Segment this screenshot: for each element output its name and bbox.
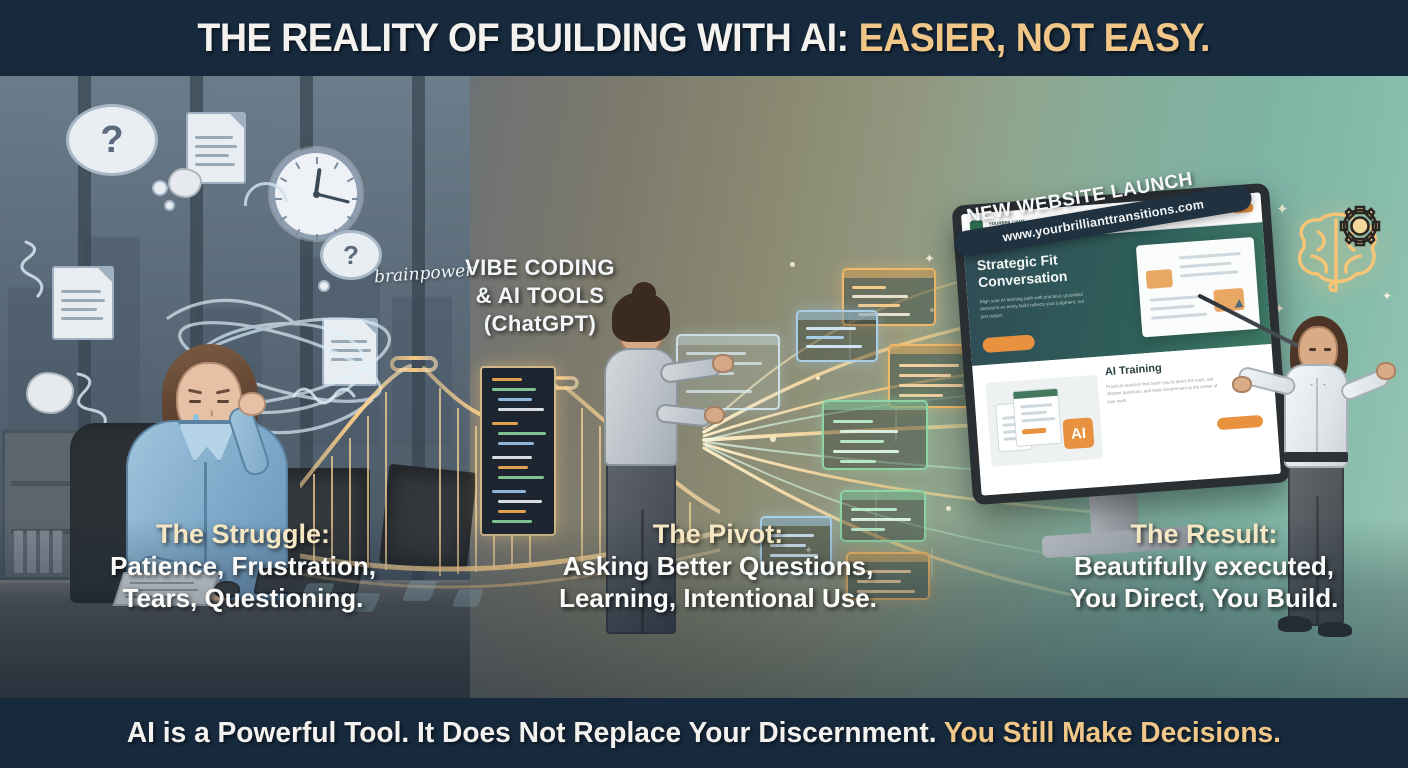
hero-illustration-card	[1136, 237, 1260, 337]
floating-code-card	[822, 400, 928, 470]
squiggle-icon	[18, 234, 84, 304]
pivot-woman-hand-gesture	[704, 406, 725, 424]
hero-body: Align your AI learning path with practic…	[979, 290, 1086, 320]
vibe-coding-label: VIBE CODING & AI TOOLS (ChatGPT)	[440, 254, 640, 338]
header-title-gold: EASIER, NOT EASY.	[859, 16, 1210, 60]
illustration-scene: ? ?	[0, 76, 1408, 698]
caption-pivot: The Pivot: Asking Better Questions, Lear…	[508, 519, 928, 614]
footer-banner: AI is a Powerful Tool. It Does Not Repla…	[0, 698, 1408, 768]
vibe-coding-line2: & AI TOOLS	[440, 282, 640, 310]
header-title-white: THE REALITY OF BUILDING WITH AI:	[198, 16, 849, 60]
infographic-root: THE REALITY OF BUILDING WITH AI: EASIER,…	[0, 0, 1408, 768]
presenter-hand-gesture	[1376, 362, 1396, 380]
website-section-ai-training: AI AI Training Practical sessions that t…	[972, 344, 1281, 496]
presenter-belt	[1284, 452, 1348, 462]
caption-result: The Result: Beautifully executed, You Di…	[1012, 519, 1396, 614]
caption-pivot-line1: Asking Better Questions,	[508, 551, 928, 582]
presenter-hand-pointer	[1232, 376, 1252, 393]
caption-struggle-line1: Patience, Frustration,	[46, 551, 440, 582]
caption-result-line1: Beautifully executed,	[1012, 551, 1396, 582]
gear-icon	[1338, 204, 1382, 248]
section-illustration-tile: AI	[985, 375, 1103, 467]
struggling-woman-hand-head	[238, 392, 266, 416]
thought-bubble-question-small: ?	[320, 230, 382, 280]
footer-text-gold: You Still Make Decisions.	[944, 717, 1281, 749]
section-cta-button[interactable]	[1217, 415, 1264, 430]
caption-struggle: The Struggle: Patience, Frustration, Tea…	[46, 519, 440, 614]
header-banner: THE REALITY OF BUILDING WITH AI: EASIER,…	[0, 0, 1408, 76]
caption-result-title: The Result:	[1012, 519, 1396, 550]
vibe-coding-line3: (ChatGPT)	[440, 310, 640, 338]
pivot-woman-hand-pointing	[712, 354, 734, 373]
footer-tagline: AI is a Powerful Tool. It Does Not Repla…	[127, 717, 1281, 750]
thought-bubble-question-large: ?	[66, 104, 158, 176]
code-editor-panel	[480, 366, 556, 536]
floating-code-card	[796, 310, 878, 362]
caption-struggle-title: The Struggle:	[46, 519, 440, 550]
vibe-coding-line1: VIBE CODING	[440, 254, 640, 282]
footer-text-white: AI is a Powerful Tool. It Does Not Repla…	[127, 717, 937, 749]
caption-pivot-title: The Pivot:	[508, 519, 928, 550]
caption-struggle-line2: Tears, Questioning.	[46, 583, 440, 614]
hero-cta-button[interactable]	[982, 334, 1035, 353]
section-body: Practical sessions that teach you to dir…	[1106, 375, 1219, 406]
caption-result-line2: You Direct, You Build.	[1012, 583, 1396, 614]
header-title: THE REALITY OF BUILDING WITH AI: EASIER,…	[198, 16, 1211, 61]
ai-badge: AI	[1062, 417, 1094, 449]
caption-pivot-line2: Learning, Intentional Use.	[508, 583, 928, 614]
